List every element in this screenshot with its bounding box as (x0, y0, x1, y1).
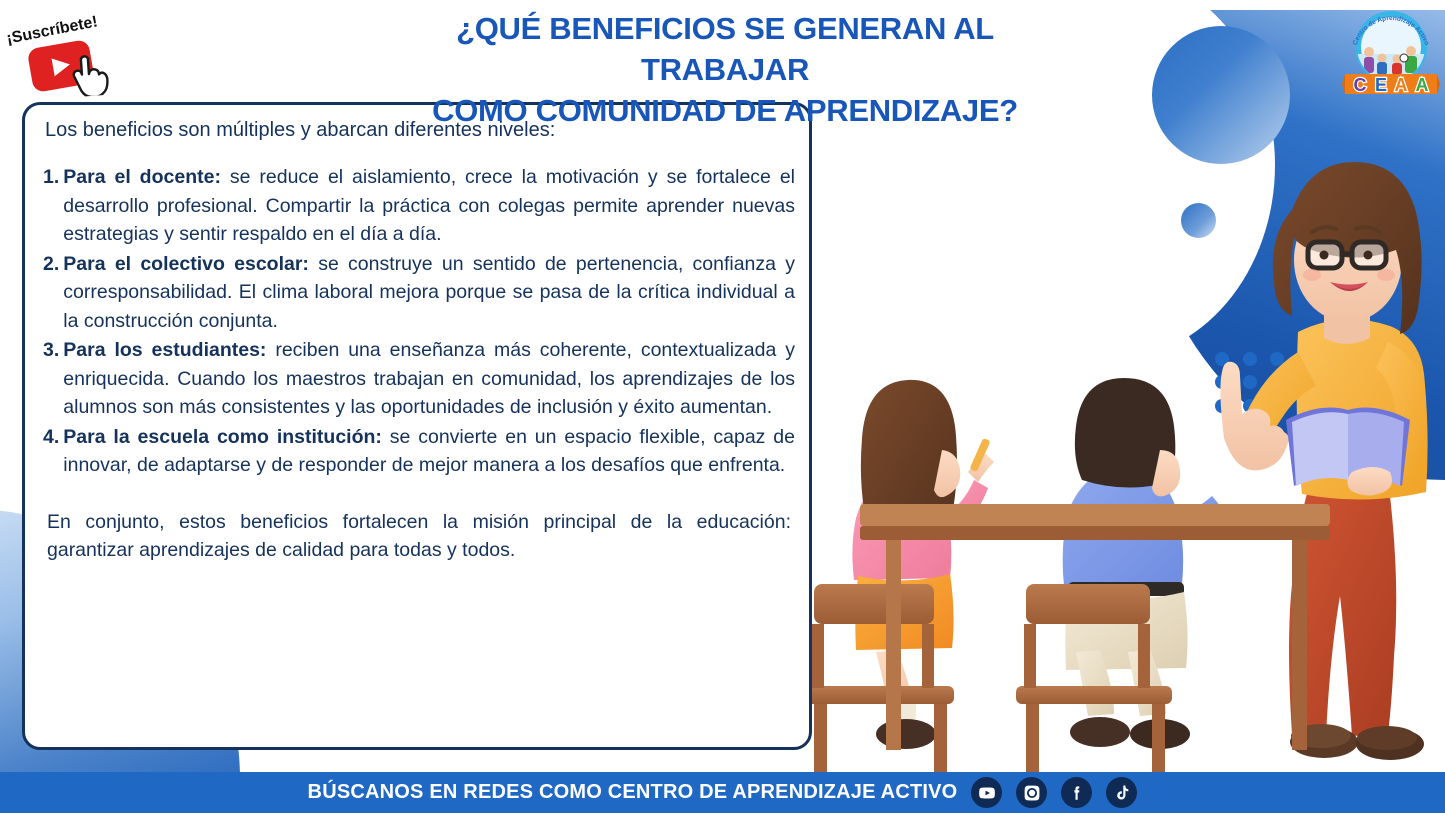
list-item: 1. Para el docente: se reduce el aislami… (43, 163, 795, 249)
svg-text:A: A (1416, 75, 1429, 95)
banner-text: BÚSCANOS EN REDES COMO CENTRO DE APRENDI… (308, 781, 958, 804)
list-item-lead: Para la escuela como institución: (63, 426, 382, 448)
list-item: 2. Para el colectivo escolar: se constru… (43, 250, 795, 336)
classroom-illustration (800, 120, 1445, 775)
benefits-card: Los beneficios son múltiples y abarcan d… (22, 102, 812, 750)
list-item-body: Para el colectivo escolar: se construye … (63, 250, 795, 336)
benefits-list: 1. Para el docente: se reduce el aislami… (43, 163, 795, 480)
list-item-number: 4. (43, 423, 63, 480)
list-item-lead: Para el docente: (63, 166, 221, 188)
list-item-lead: Para los estudiantes: (63, 339, 266, 361)
title-line-2: TRABAJAR (390, 49, 1060, 90)
svg-text:A: A (1395, 75, 1408, 95)
facebook-icon[interactable] (1061, 777, 1092, 808)
title-line-1: ¿QUÉ BENEFICIOS SE GENERAN AL (390, 8, 1060, 49)
list-item-number: 3. (43, 336, 63, 422)
footer-banner: BÚSCANOS EN REDES COMO CENTRO DE APRENDI… (0, 772, 1445, 813)
page-title: ¿QUÉ BENEFICIOS SE GENERAN AL TRABAJAR C… (390, 8, 1060, 131)
tiktok-icon[interactable] (1106, 777, 1137, 808)
hand-cursor-icon (69, 53, 112, 98)
student-boy (1016, 378, 1222, 775)
youtube-icon[interactable] (971, 777, 1002, 808)
subscribe-badge[interactable]: ¡Suscríbete! (2, 4, 114, 90)
teacher-figure (1220, 162, 1427, 760)
svg-text:E: E (1375, 75, 1387, 95)
list-item-lead: Para el colectivo escolar: (63, 253, 309, 275)
open-book (1286, 408, 1410, 486)
list-item: 3. Para los estudiantes: reciben una ens… (43, 336, 795, 422)
list-item-number: 1. (43, 163, 63, 249)
list-item-body: Para la escuela como institución: se con… (63, 423, 795, 480)
ceaa-logo: Centro de Aprendizaje Activo C E A A (1341, 2, 1441, 102)
list-item-body: Para los estudiantes: reciben una enseña… (63, 336, 795, 422)
svg-text:C: C (1354, 75, 1367, 95)
slide-canvas: ¿QUÉ BENEFICIOS SE GENERAN AL TRABAJAR C… (0, 0, 1445, 813)
closing-paragraph: En conjunto, estos beneficios fortalecen… (47, 508, 791, 565)
list-item: 4. Para la escuela como institución: se … (43, 423, 795, 480)
instagram-icon[interactable] (1016, 777, 1047, 808)
title-line-3: COMO COMUNIDAD DE APRENDIZAJE? (390, 90, 1060, 131)
list-item-number: 2. (43, 250, 63, 336)
list-item-body: Para el docente: se reduce el aislamient… (63, 163, 795, 249)
